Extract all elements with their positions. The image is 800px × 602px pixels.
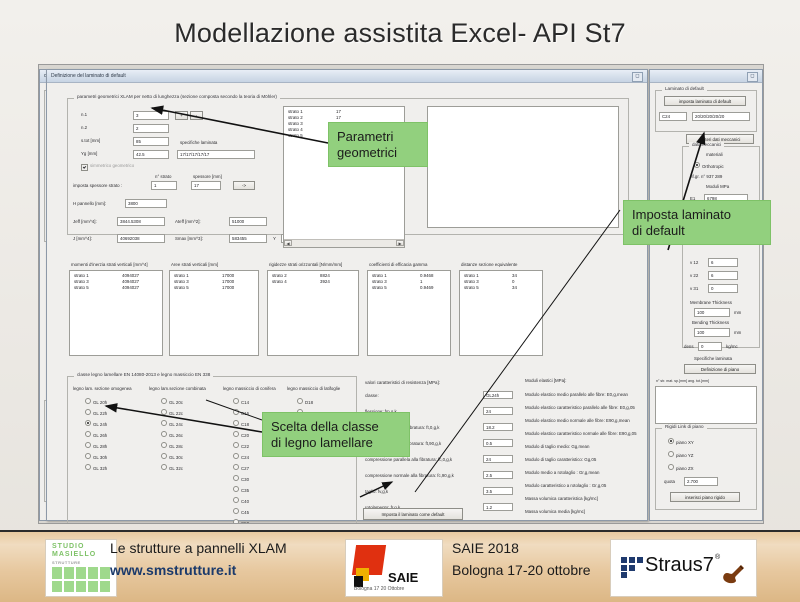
radio-gl30h[interactable]: GL 30h	[85, 453, 107, 460]
resist-title: valori caratteristici di resistenza [MPa…	[365, 380, 440, 386]
column-header-combinata: legno lam.sezione combinata	[149, 386, 206, 392]
group-title-laminato-default: Laminato di default	[662, 86, 707, 91]
radio-c14[interactable]: C14	[233, 398, 249, 405]
right-table-header: n° str. mat. sp.[mm] ang. tot.[mm]	[656, 378, 709, 384]
moduli-label-9: Massa volumica media [kg/mc]	[525, 509, 585, 515]
slide-canvas: Modellazione assistita Excel- API St7 de…	[0, 0, 800, 600]
moduli-label-7: Modulo caratteristico a rotolaglio : Gr,…	[525, 483, 606, 489]
radio-d18[interactable]: D18	[297, 398, 313, 405]
table-momenti-inerzia[interactable]: strato 14094027 strato 34094027 strato 5…	[69, 270, 163, 356]
label-specifiche-laminata-right: Specifiche laminata	[694, 356, 732, 362]
radio-gl24c[interactable]: GL 24c	[161, 420, 183, 427]
saie-logo: SAIE Bologna 17 20 Ottobre	[345, 539, 443, 597]
label-n-strato: n° strato	[155, 174, 171, 180]
column-header-omogenea: legno lam. sezione omogenea	[73, 386, 132, 392]
input-yg[interactable]: 42.5	[133, 150, 169, 159]
radio-c22[interactable]: C22	[233, 442, 249, 449]
label-n2: n.2	[81, 125, 87, 131]
label-gamma-tail: Y	[273, 236, 276, 242]
callout-scelta-classe: Scelta della classe di legno lamellare	[262, 412, 410, 457]
radio-c20[interactable]: C20	[233, 431, 249, 438]
radio-c40[interactable]: C40	[233, 497, 249, 504]
scroll-right-arrow-icon[interactable]: ▶	[396, 240, 404, 246]
radio-c27[interactable]: C27	[233, 464, 249, 471]
label-rif-gr: rif.gr. n° 937 289	[690, 174, 722, 180]
radio-gl32h[interactable]: GL 32h	[85, 464, 107, 471]
straus7-squares-icon	[621, 557, 643, 577]
radio-piano-xy[interactable]: piano XY	[668, 438, 694, 445]
input-v12[interactable]: 6	[708, 258, 738, 267]
table-aree-strati[interactable]: strato 117000 strato 317000 strato 51700…	[169, 270, 259, 356]
radio-gl26h[interactable]: GL 26h	[85, 431, 107, 438]
input-stack-default[interactable]: 20/20/20/20/20	[692, 112, 750, 121]
input-jeff[interactable]: 3844.5308	[117, 217, 165, 226]
moduli-label-0: Modulo elastico medio parallelo alle fib…	[525, 392, 628, 398]
page-title: Modellazione assistita Excel- API St7	[0, 18, 800, 49]
group-title-geom: parametri geometrici XLAM per netto di l…	[74, 94, 280, 99]
table-gamma[interactable]: strato 10.9468 strato 31 strato 50.9469	[367, 270, 451, 356]
imposta-laminato-default-button[interactable]: Imposta il laminato come default	[363, 508, 463, 520]
label-bending-thickness: Bending Thickness	[692, 320, 729, 326]
table-distanze[interactable]: strato 134 strato 30 strato 534	[459, 270, 543, 356]
label-materiali: materiali	[706, 152, 723, 158]
dialog-laminato-panel[interactable]: ◻ Laminato di default imposta laminato d…	[649, 69, 763, 521]
input-specifiche-laminata[interactable]: 17/17/17/17/17	[177, 150, 255, 159]
label-quota: quota	[664, 479, 675, 485]
radio-gl22c[interactable]: GL 22c	[161, 409, 183, 416]
logo-grid-icon	[52, 567, 110, 592]
input-stot[interactable]: 85	[133, 137, 169, 146]
radio-c45[interactable]: C45	[233, 508, 249, 515]
label-v22: v 22	[690, 273, 698, 279]
radio-c16[interactable]: C16	[233, 409, 249, 416]
radio-gl28c[interactable]: GL 28c	[161, 442, 183, 449]
table-row: strato 50.9469	[368, 285, 450, 291]
radio-gl22h[interactable]: GL 22h	[85, 409, 107, 416]
label-stot: s.tot [mm]	[81, 138, 100, 144]
input-class-default[interactable]: C24	[659, 112, 687, 121]
resist-value-2[interactable]: 18.2	[483, 423, 513, 431]
window-restore-button-right[interactable]: ◻	[747, 72, 758, 82]
callout-imposta-laminato: Imposta laminato di default	[623, 200, 771, 245]
scroll-left-arrow-icon[interactable]: ◀	[284, 240, 292, 246]
slide-footer: STUDIO MASIELLO STRUTTURE Le strutture a…	[0, 530, 800, 602]
window-restore-button[interactable]: ◻	[632, 72, 643, 82]
resist-value-5[interactable]: 2.5	[483, 471, 513, 479]
label-smax: Smax [mm^3]:	[175, 236, 203, 242]
window-titlebar-right	[650, 70, 762, 83]
resist-value-3[interactable]: 0.5	[483, 439, 513, 447]
decrement-button[interactable]: -	[190, 111, 203, 120]
moduli-label-4: Modulo di taglio medio: Gg,mean	[525, 444, 589, 450]
radio-c18[interactable]: C18	[233, 420, 249, 427]
footer-website-link[interactable]: www.smstrutture.it	[110, 562, 236, 578]
table-row: strato 54094027	[70, 285, 162, 291]
unit-membrane: mm	[734, 310, 741, 316]
straus7-logo: Straus7 ®	[610, 539, 757, 597]
checkbox-simmetrico[interactable]	[81, 164, 88, 171]
label-h-pannello: H pannello [mm]:	[73, 201, 106, 207]
label-moduli-mpa: Moduli MPa	[706, 184, 729, 190]
callout-parametri-geometrici: Parametri geometrici	[328, 122, 428, 167]
table-row: strato 534	[460, 285, 542, 291]
input-membrane-thickness[interactable]: 100	[694, 308, 730, 317]
label-v12: v 12	[690, 260, 698, 266]
footer-line-1: Le strutture a pannelli XLAM	[110, 540, 287, 556]
input-n2[interactable]: 2	[133, 124, 169, 133]
increment-button[interactable]: +	[175, 111, 188, 120]
table-rigidezze[interactable]: strato 28824 strato 43924	[267, 270, 359, 356]
label-membrane-thickness: Membrane Thickness	[690, 300, 732, 306]
moduli-title: Moduli elastici [MPa]:	[525, 378, 566, 384]
studio-masiello-logo: STUDIO MASIELLO STRUTTURE	[45, 539, 117, 597]
label-yg: Yg [mm]	[81, 151, 97, 157]
radio-c35[interactable]: C35	[233, 486, 249, 493]
unit-dens: kg/mc	[726, 344, 738, 350]
input-quota[interactable]: 2.700	[684, 477, 718, 486]
group-title-classe-legno: classe legno lamellare EN 14080-2013 e l…	[74, 372, 213, 377]
input-bending-thickness[interactable]: 100	[694, 328, 730, 337]
unit-bending: mm	[734, 330, 741, 336]
moduli-label-2: Modulo elastico medio normale alle fibre…	[525, 418, 630, 424]
group-title-dati-meccanici: dati meccanici	[689, 142, 724, 147]
moduli-label-3: Modulo elastico caratteristico normale a…	[525, 431, 637, 437]
resist-value-1[interactable]: 24	[483, 407, 513, 415]
label-ateff: Ateff [mm^2]:	[175, 219, 201, 225]
set-default-laminate-button[interactable]: imposta laminato di default	[664, 96, 746, 106]
table-title-2: rigidezze strati orizzontali [N/mm/mm]	[269, 262, 342, 268]
footer-line-3: SAIE 2018	[452, 540, 519, 556]
violin-icon	[721, 562, 747, 584]
table-title-0: momenti d'inerzia strati verticali [mm^4…	[71, 262, 148, 268]
radio-gl28h[interactable]: GL 28h	[85, 442, 107, 449]
radio-piano-yz[interactable]: piano YZ	[668, 451, 694, 458]
table-row: strato 43924	[268, 279, 358, 285]
table-title-1: Aree strati verticali [mm]	[171, 262, 218, 268]
resist-value-0[interactable]: GL24h	[483, 391, 513, 399]
moduli-label-8: Massa volumica caratteristica [kg/mc]	[525, 496, 598, 502]
input-h-pannello[interactable]: 3800	[125, 199, 167, 208]
radio-gl26c[interactable]: GL 26c	[161, 431, 183, 438]
label-jeff: Jeff [mm^4]:	[73, 219, 97, 225]
input-ateff[interactable]: 51000	[229, 217, 267, 226]
label-imposta-spessore: imposta spessore strato :	[73, 183, 122, 189]
moduli-label-5: Modulo di taglio caratteristico: Gg,05	[525, 457, 596, 463]
input-dens[interactable]: 0	[698, 342, 722, 351]
input-n1[interactable]: 3	[133, 111, 169, 120]
moduli-label-6: Modulo medio a rotolaglio : Gr,g,mean	[525, 470, 599, 476]
table-title-4: distanze sezione equivalente	[461, 262, 517, 268]
resist-value-4[interactable]: 24	[483, 455, 513, 463]
table-title-3: coefficienti di efficacia gamma	[369, 262, 427, 268]
column-header-latifoglie: legno massiccio di latifoglie	[287, 386, 340, 392]
right-laminate-table[interactable]	[655, 386, 757, 424]
label-spessore: spessore [mm]	[193, 174, 222, 180]
listbox-hscrollbar[interactable]: ◀ ▶	[284, 239, 404, 247]
input-smax[interactable]: 583455	[229, 234, 267, 243]
label-n1: n.1	[81, 112, 87, 118]
input-n-strato[interactable]: 1	[151, 181, 177, 190]
input-spessore[interactable]: 17	[191, 181, 221, 190]
table-row: strato 517000	[170, 285, 258, 291]
radio-c24[interactable]: C24	[233, 453, 249, 460]
label-simmetrico: simmetrico geometrico	[90, 163, 134, 169]
resist-value-7[interactable]: 1.2	[483, 503, 513, 511]
radio-gl24h[interactable]: GL 24h	[85, 420, 107, 427]
radio-gl32c[interactable]: GL 32c	[161, 464, 183, 471]
input-v31[interactable]: 0	[708, 284, 738, 293]
radio-gl20c[interactable]: GL 20c	[161, 398, 183, 405]
resist-label-5: compressione normale alla fibratura: fc,…	[365, 473, 454, 479]
inserisci-piano-rigido-button[interactable]: inserisci piano rigido	[670, 492, 740, 502]
resist-label-4: compressione parallela alla fibratura: f…	[365, 457, 452, 463]
footer-line-4: Bologna 17-20 ottobre	[452, 562, 591, 578]
preview-panel	[427, 106, 619, 228]
radio-c30[interactable]: C30	[233, 475, 249, 482]
definizione-piano-button[interactable]: Definizione di piano	[684, 364, 756, 374]
radio-gl30c[interactable]: GL 30c	[161, 453, 183, 460]
apply-thickness-button[interactable]: ->	[233, 181, 255, 190]
group-title-rigidi-link: Rigidi Link di piano	[662, 424, 707, 429]
radio-gl20h[interactable]: GL 20h	[85, 398, 107, 405]
moduli-label-1: Modulo elastico caratteristico parallelo…	[525, 405, 635, 411]
label-specifiche-laminata: specifiche laminata	[180, 140, 217, 146]
column-header-conifera: legno massiccio di conifera	[223, 386, 276, 392]
resist-value-6[interactable]: 3.5	[483, 487, 513, 495]
input-j[interactable]: 40692038	[117, 234, 165, 243]
radio-piano-zx[interactable]: piano ZX	[668, 464, 694, 471]
radio-c50[interactable]: C50	[233, 519, 249, 524]
input-v22[interactable]: 6	[708, 271, 738, 280]
window-titlebar-main: Definizione del laminato di default	[47, 70, 647, 83]
radio-orthotropic[interactable]: Orthotropic	[694, 162, 724, 169]
resist-label-0: classe:	[365, 393, 379, 399]
label-j: J [mm^4]:	[73, 236, 92, 242]
label-v31: v 31	[690, 286, 698, 292]
resist-label-6: taglio: fv,g,k	[365, 489, 388, 495]
label-dens: dens	[684, 344, 694, 350]
